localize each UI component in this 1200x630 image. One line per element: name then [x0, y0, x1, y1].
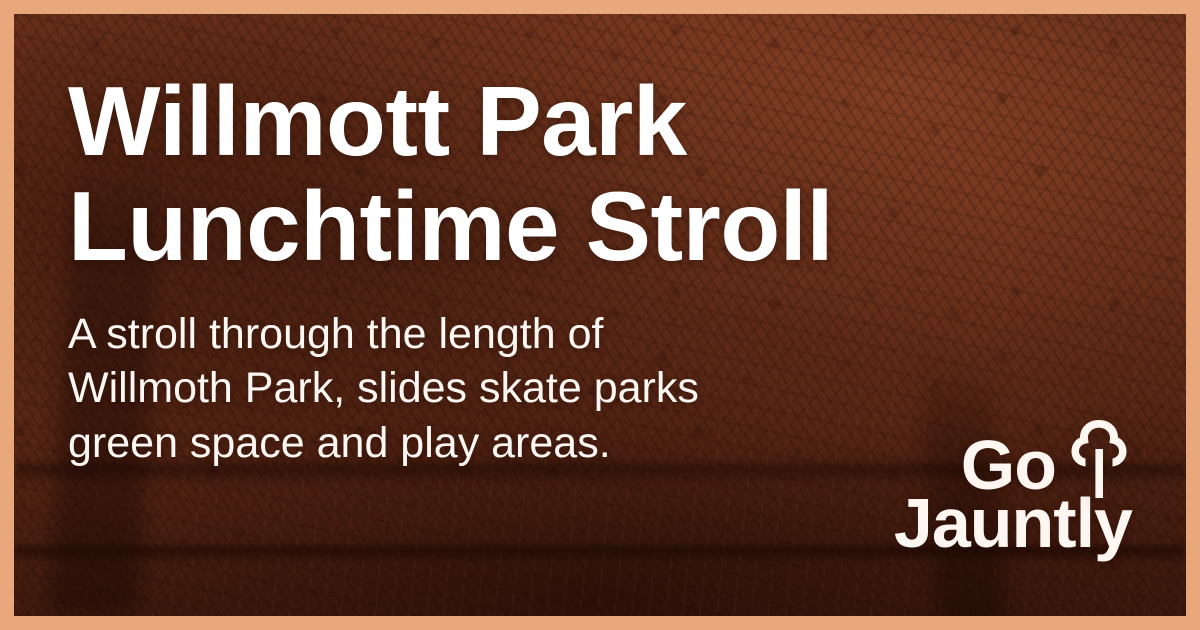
walk-title: Willmott Park Lunchtime Stroll	[68, 69, 948, 279]
go-jauntly-logo: Go Jauntly	[894, 416, 1132, 558]
walk-description-line-1: A stroll through the length of	[68, 307, 828, 362]
walk-description: A stroll through the length of Willmoth …	[68, 307, 828, 471]
walk-description-line-2: Willmoth Park, slides skate parks	[68, 361, 828, 416]
walk-title-line-1: Willmott Park	[68, 69, 948, 174]
logo-word-jauntly: Jauntly	[894, 488, 1132, 558]
tree-icon	[1066, 416, 1132, 498]
walk-title-line-2: Lunchtime Stroll	[68, 174, 948, 279]
card-inner-frame: Willmott Park Lunchtime Stroll A stroll …	[14, 14, 1186, 616]
walk-description-line-3: green space and play areas.	[68, 416, 828, 471]
social-share-card: Willmott Park Lunchtime Stroll A stroll …	[0, 0, 1200, 630]
